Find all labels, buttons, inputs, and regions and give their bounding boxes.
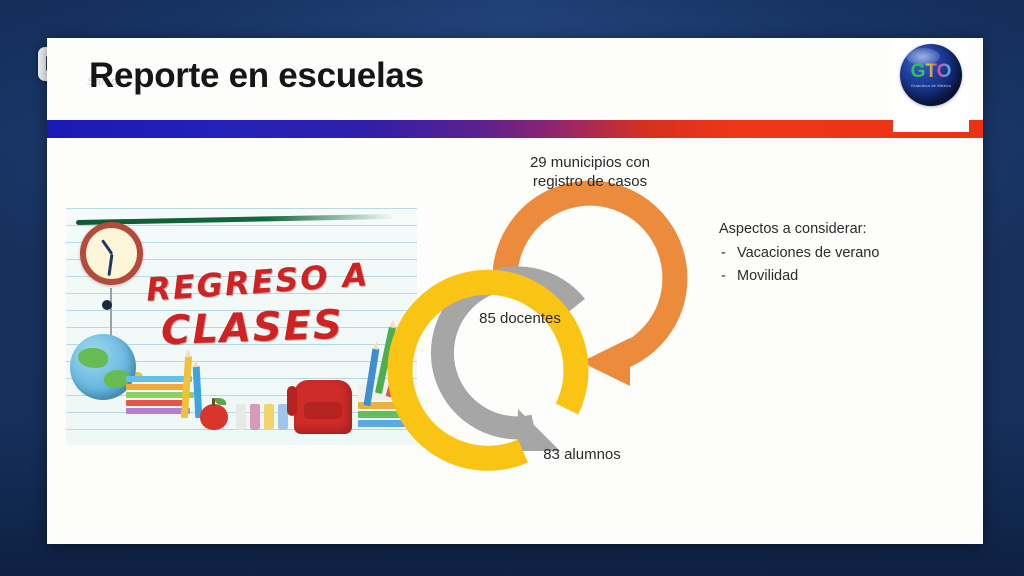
yellow-ring: [400, 282, 576, 458]
gto-logo-subtitle: Grandeza de México: [911, 83, 952, 88]
list-item: - Vacaciones de verano: [719, 242, 949, 264]
clock-pendulum-weight: [102, 300, 112, 310]
title-divider-bar: [47, 120, 983, 138]
aspects-panel: Aspectos a considerar: - Vacaciones de v…: [719, 218, 949, 287]
regreso-a-clases-image: REGRESO A CLASES: [66, 208, 417, 445]
orange-ring: [505, 193, 675, 386]
glue-bottle-icon-1: [236, 404, 246, 430]
bullet-dash: -: [721, 265, 728, 287]
gray-ring: [442, 278, 576, 451]
glue-bottle-icon-3: [264, 404, 274, 430]
gto-logo-text: GTO: [911, 62, 952, 81]
apple-icon: [200, 404, 228, 430]
image-title-line2: CLASES: [160, 302, 344, 354]
aspects-heading: Aspectos a considerar:: [719, 218, 949, 240]
clock-icon: [80, 222, 143, 285]
gray-ring-label: 85 docentes: [445, 310, 595, 329]
image-title-line1: REGRESO A: [145, 255, 371, 308]
notebook-header-line: [76, 214, 394, 225]
gto-logo: GTO Grandeza de México: [893, 38, 969, 132]
list-item: - Movilidad: [719, 265, 949, 287]
bullet-dash: -: [721, 242, 728, 264]
backpack-icon: [294, 380, 352, 434]
aspects-list: - Vacaciones de verano - Movilidad: [719, 242, 949, 287]
yellow-ring-label: 83 alumnos: [507, 446, 657, 465]
glue-bottle-icon-2: [250, 404, 260, 430]
orange-ring-label: 29 municipios con registro de casos: [515, 154, 665, 192]
presentation-slide: Salud Reporte en escuelas GTO Grandeza d…: [47, 38, 983, 544]
list-item-label: Movilidad: [737, 265, 798, 287]
gto-logo-sphere: GTO Grandeza de México: [900, 44, 962, 106]
page-title: Reporte en escuelas: [89, 56, 424, 96]
list-item-label: Vacaciones de verano: [737, 242, 879, 264]
